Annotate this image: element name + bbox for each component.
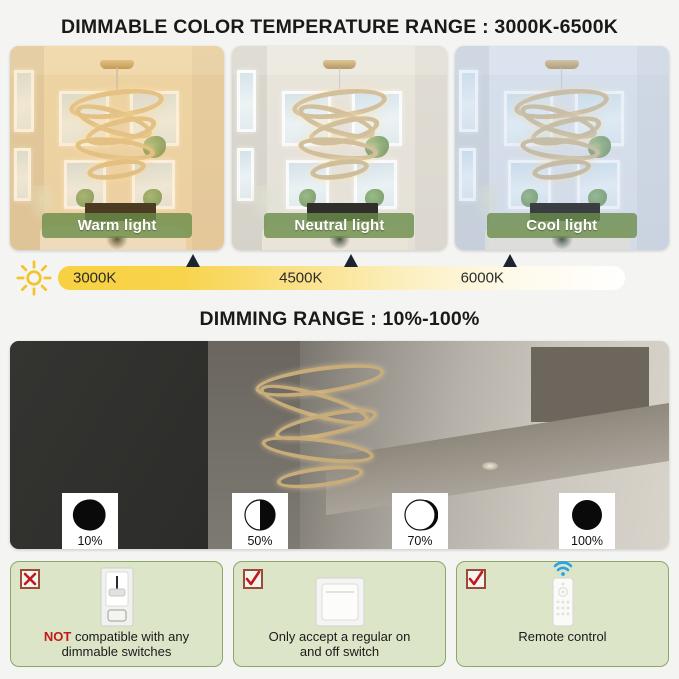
caption-line2-2: and off switch — [300, 644, 379, 659]
card-regular-switch[interactable]: Only accept a regular on and off switch — [233, 561, 446, 667]
panel-warm-light[interactable]: Warm light — [10, 46, 224, 250]
card-dimmer-switch[interactable]: NOT compatible with any dimmable switche… — [10, 561, 223, 667]
chandelier-icon — [53, 60, 182, 207]
caption-highlight-1: NOT — [44, 629, 71, 644]
dim-label-10: 10% — [77, 534, 102, 548]
dim-label-100: 100% — [571, 534, 603, 548]
color-temperature-panels: Warm light — [0, 39, 679, 250]
kelvin-scale: 3000K 4500K 6000K — [10, 259, 669, 297]
dim-badge-50: 50% — [232, 493, 288, 549]
dimming-photo: 10% 50% 70% 100% — [10, 341, 669, 549]
dim-label-50: 50% — [247, 534, 272, 548]
wifi-signal-icon — [555, 563, 571, 576]
panel-label-neutral: Neutral light — [264, 213, 414, 238]
check-icon — [243, 569, 263, 589]
dimming-title: DIMMING RANGE : 10%-100% — [0, 297, 679, 341]
card-caption-2: Only accept a regular on and off switch — [263, 629, 417, 659]
panel-label-warm: Warm light — [42, 213, 192, 238]
brightness-100-icon — [569, 497, 605, 533]
kelvin-marker-6000k — [503, 254, 517, 267]
cross-icon — [20, 569, 40, 589]
card-caption-1: NOT compatible with any dimmable switche… — [38, 629, 195, 659]
dimmer-switch-icon — [100, 565, 134, 627]
card-remote-control[interactable]: Remote control — [456, 561, 669, 667]
chandelier-icon — [498, 60, 627, 207]
compatibility-cards: NOT compatible with any dimmable switche… — [10, 561, 669, 667]
color-temperature-section: DIMMABLE COLOR TEMPERATURE RANGE : 3000K… — [0, 0, 679, 297]
dim-badge-70: 70% — [392, 493, 448, 549]
wall-switch-icon — [315, 565, 365, 627]
check-icon — [466, 569, 486, 589]
dim-badge-10: 10% — [62, 493, 118, 549]
panel-label-cool: Cool light — [487, 213, 637, 238]
kelvin-marker-4500k — [344, 254, 358, 267]
card-caption-3: Remote control — [512, 629, 612, 644]
dimming-section: DIMMING RANGE : 10%-100% 10% 50% — [0, 297, 679, 549]
kelvin-tick-1: 3000K — [73, 270, 116, 287]
dim-label-70: 70% — [407, 534, 432, 548]
kelvin-gradient-bar: 3000K 4500K 6000K — [58, 266, 625, 290]
caption-rest-2: Only accept a regular on — [269, 629, 411, 644]
remote-control-icon — [548, 565, 578, 627]
dim-badge-100: 100% — [559, 493, 615, 549]
caption-rest-1: compatible with any — [71, 629, 189, 644]
panel-cool-light[interactable]: Cool light — [455, 46, 669, 250]
brightness-50-icon — [242, 497, 278, 533]
caption-line2-1: dimmable switches — [62, 644, 172, 659]
brightness-70-icon — [402, 497, 438, 533]
page-title: DIMMABLE COLOR TEMPERATURE RANGE : 3000K… — [0, 0, 679, 39]
kelvin-marker-3000k — [186, 254, 200, 267]
kelvin-tick-2: 4500K — [279, 270, 322, 287]
sun-icon — [14, 260, 54, 296]
caption-rest-3: Remote control — [518, 629, 606, 644]
chandelier-icon — [275, 60, 404, 207]
brightness-10-icon — [72, 497, 108, 533]
panel-neutral-light[interactable]: Neutral light — [232, 46, 446, 250]
kelvin-tick-3: 6000K — [461, 270, 504, 287]
